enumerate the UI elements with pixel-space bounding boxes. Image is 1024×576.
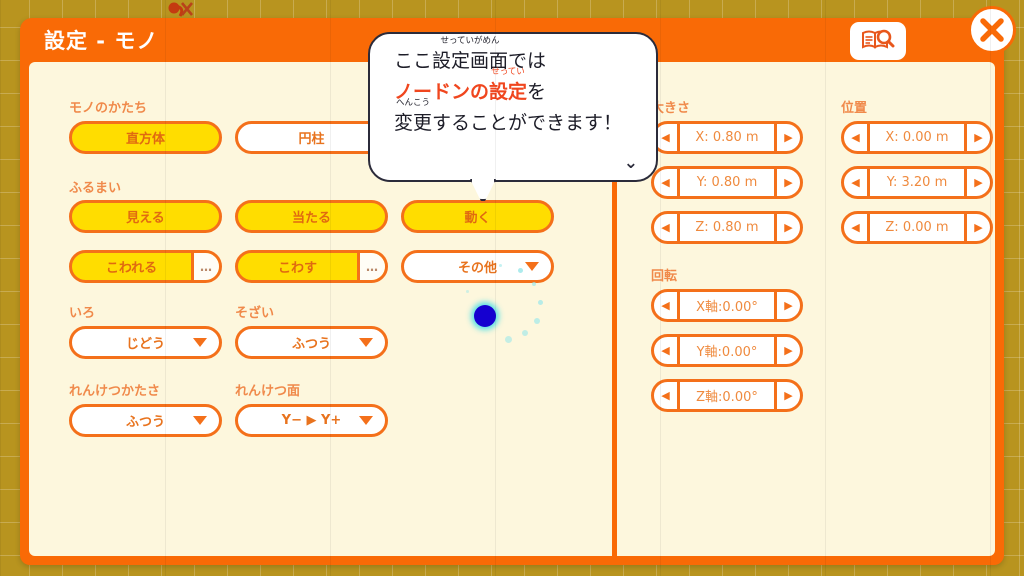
book-search-icon — [861, 28, 895, 54]
arrow-left-icon[interactable]: ◀ — [654, 214, 680, 241]
arrow-left-icon[interactable]: ◀ — [654, 337, 680, 364]
behavior-destroyer-label: こわす — [238, 257, 357, 276]
size-x-stepper[interactable]: ◀ X: 0.80 m ▶ — [651, 121, 803, 154]
color-dropdown[interactable]: じどう — [69, 326, 222, 359]
section-label-behavior: ふるまい — [69, 177, 121, 196]
arrow-right-icon[interactable]: ▶ — [964, 214, 990, 241]
close-button[interactable] — [968, 6, 1016, 54]
chevron-down-icon[interactable]: ⌄ — [624, 155, 638, 172]
shape-option-cylinder-label: 円柱 — [238, 128, 385, 147]
page-title: 設定 - モノ — [44, 25, 158, 55]
arrow-left-icon[interactable]: ◀ — [654, 382, 680, 409]
ruby-annotation: へんこう — [396, 99, 430, 108]
behavior-move-label: 動く — [404, 207, 551, 226]
arrow-right-icon[interactable]: ▶ — [774, 169, 800, 196]
bubble-line2-ruby-group: せってい設定 — [489, 79, 527, 105]
cursor-spark — [505, 336, 512, 343]
position-y-value: Y: 3.20 m — [870, 169, 964, 196]
cursor-spark — [522, 330, 528, 336]
arrow-left-icon[interactable]: ◀ — [654, 169, 680, 196]
cursor-spark — [538, 300, 543, 305]
size-x-value: X: 0.80 m — [680, 124, 774, 151]
joint-strength-dropdown[interactable]: ふつう — [69, 404, 222, 437]
bubble-line2-base: 設定 — [489, 81, 527, 103]
ruby-annotation: せっていがめん — [440, 37, 499, 46]
close-icon — [979, 17, 1005, 43]
bubble-line3-ruby-group: へんこう変更 — [394, 110, 432, 136]
chevron-down-icon — [525, 262, 539, 271]
cursor-spark — [466, 290, 469, 293]
chevron-down-icon — [359, 416, 373, 425]
rotation-y-value: Y軸:0.00° — [680, 337, 774, 364]
chevron-down-icon — [193, 338, 207, 347]
behavior-destroyer[interactable]: こわす … — [235, 250, 388, 283]
arrow-right-icon[interactable]: ▶ — [774, 382, 800, 409]
chevron-down-icon — [193, 416, 207, 425]
position-x-stepper[interactable]: ◀ X: 0.00 m ▶ — [841, 121, 993, 154]
cursor-pointer — [474, 305, 496, 327]
arrow-right-icon[interactable]: ▶ — [964, 169, 990, 196]
cursor-spark — [499, 264, 502, 267]
behavior-collide-label: 当たる — [238, 207, 385, 226]
arrow-right-icon[interactable]: ▶ — [774, 292, 800, 319]
bubble-line2-post: を — [527, 81, 546, 103]
behavior-breakable-more-button[interactable]: … — [191, 253, 219, 280]
rotation-x-value: X軸:0.00° — [680, 292, 774, 319]
rotation-z-value: Z軸:0.00° — [680, 382, 774, 409]
section-label-position: 位置 — [841, 97, 867, 116]
cursor-spark — [532, 282, 536, 286]
behavior-visible-label: 見える — [72, 207, 219, 226]
arrow-right-icon[interactable]: ▶ — [774, 124, 800, 151]
behavior-breakable[interactable]: こわれる … — [69, 250, 222, 283]
section-label-material: そざい — [235, 302, 274, 321]
arrow-right-icon[interactable]: ▶ — [774, 337, 800, 364]
shape-option-cylinder[interactable]: 円柱 — [235, 121, 388, 154]
chevron-down-icon — [359, 338, 373, 347]
arrow-right-icon[interactable]: ▶ — [964, 124, 990, 151]
arrow-left-icon[interactable]: ◀ — [844, 169, 870, 196]
behavior-move[interactable]: 動く — [401, 200, 554, 233]
shape-option-cuboid-label: 直方体 — [72, 128, 219, 147]
size-z-value: Z: 0.80 m — [680, 214, 774, 241]
bubble-line3-post: することができます！ — [432, 112, 622, 134]
section-label-color: いろ — [69, 302, 95, 321]
game-screen: 設定 - モノ — [0, 0, 1024, 576]
arrow-left-icon[interactable]: ◀ — [844, 124, 870, 151]
behavior-other-dropdown[interactable]: その他 — [401, 250, 554, 283]
rotation-y-stepper[interactable]: ◀ Y軸:0.00° ▶ — [651, 334, 803, 367]
behavior-collide[interactable]: 当たる — [235, 200, 388, 233]
joint-face-dropdown[interactable]: Y− ▶ Y+ — [235, 404, 388, 437]
arrow-left-icon[interactable]: ◀ — [654, 292, 680, 319]
section-label-rotation: 回転 — [651, 265, 677, 284]
behavior-breakable-label: こわれる — [72, 257, 191, 276]
behavior-visible[interactable]: 見える — [69, 200, 222, 233]
size-y-stepper[interactable]: ◀ Y: 0.80 m ▶ — [651, 166, 803, 199]
bubble-line3-base: 変更 — [394, 112, 432, 134]
shape-option-cuboid[interactable]: 直方体 — [69, 121, 222, 154]
bubble-line-2: ノードンのせってい設定を — [394, 79, 638, 105]
position-y-stepper[interactable]: ◀ Y: 3.20 m ▶ — [841, 166, 993, 199]
bubble-line1-pre: ここ — [394, 50, 432, 72]
position-x-value: X: 0.00 m — [870, 124, 964, 151]
tutorial-speech-bubble[interactable]: ここせっていがめん設定画面では ノードンのせってい設定を へんこう変更することが… — [368, 32, 658, 182]
size-z-stepper[interactable]: ◀ Z: 0.80 m ▶ — [651, 211, 803, 244]
section-label-shape: モノのかたち — [69, 97, 147, 116]
arrow-left-icon[interactable]: ◀ — [844, 214, 870, 241]
behavior-destroyer-more-button[interactable]: … — [357, 253, 385, 280]
cursor-spark — [534, 318, 540, 324]
right-column: 大きさ ◀ X: 0.80 m ▶ ◀ Y: 0.80 m ▶ ◀ Z: 0.8… — [617, 62, 995, 556]
size-y-value: Y: 0.80 m — [680, 169, 774, 196]
section-label-joint-face: れんけつ面 — [235, 380, 300, 399]
rotation-x-stepper[interactable]: ◀ X軸:0.00° ▶ — [651, 289, 803, 322]
bubble-line-3: へんこう変更することができます！ — [394, 110, 638, 136]
cursor-spark — [518, 268, 523, 273]
position-z-stepper[interactable]: ◀ Z: 0.00 m ▶ — [841, 211, 993, 244]
ruby-annotation: せってい — [491, 68, 525, 77]
position-z-value: Z: 0.00 m — [870, 214, 964, 241]
help-guide-button[interactable] — [850, 22, 906, 60]
rotation-z-stepper[interactable]: ◀ Z軸:0.00° ▶ — [651, 379, 803, 412]
section-label-joint-strength: れんけつかたさ — [69, 380, 160, 399]
material-dropdown[interactable]: ふつう — [235, 326, 388, 359]
arrow-right-icon[interactable]: ▶ — [774, 214, 800, 241]
